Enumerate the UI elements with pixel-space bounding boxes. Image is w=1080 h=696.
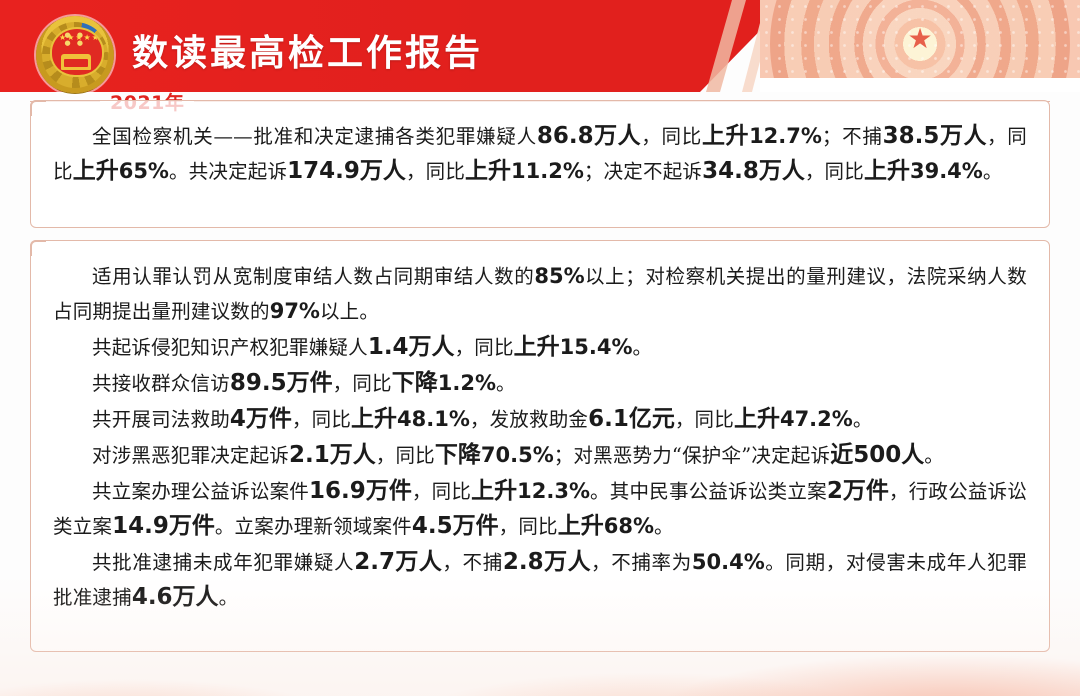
highlight-figure: 15.4%	[560, 335, 633, 359]
page-title: 数读最高检工作报告	[132, 24, 483, 76]
paragraph-list-box2: 适用认罪认罚从宽制度审结人数占同期审结人数的85%以上；对检察机关提出的量刑建议…	[53, 259, 1027, 615]
infographic-page: ★ ● ● ● ● ★★★★★ 数读最高检工作报告 2021年 全国检察机关——…	[0, 0, 1080, 696]
header-starburst-decoration: ★	[760, 0, 1080, 78]
highlight-figure: 2.8万人	[503, 549, 591, 575]
statistic-paragraph: 共开展司法救助4万件，同比上升48.1%，发放救助金6.1亿元，同比上升47.2…	[53, 402, 1027, 437]
highlight-figure: 12.7%	[749, 124, 822, 148]
highlight-figure: 11.2%	[511, 159, 584, 183]
highlight-figure: 6.1亿元	[588, 406, 675, 432]
highlight-figure: 上升	[702, 123, 749, 149]
highlight-figure: 47.2%	[780, 407, 853, 431]
highlight-figure: 85%	[534, 264, 584, 288]
highlight-figure: 下降	[435, 442, 481, 468]
highlight-figure: 4.6万人	[132, 584, 219, 610]
emblem-stars-icon: ★★★★★	[59, 34, 93, 50]
highlight-figure: 86.8万人	[537, 123, 641, 149]
highlight-figure: 近500人	[830, 442, 924, 468]
highlight-figure: 16.9万件	[309, 478, 412, 504]
details-box-statistics: 适用认罪认罚从宽制度审结人数占同期审结人数的85%以上；对检察机关提出的量刑建议…	[30, 240, 1050, 652]
highlight-figure: 34.8万人	[702, 158, 805, 184]
header-banner: ★ ● ● ● ● ★★★★★ 数读最高检工作报告	[0, 0, 1080, 92]
statistic-paragraph: 共立案办理公益诉讼案件16.9万件，同比上升12.3%。其中民事公益诉讼类立案2…	[53, 474, 1027, 544]
highlight-figure: 2.7万人	[354, 549, 442, 575]
emblem-red-shield: ● ● ● ● ★★★★★	[50, 27, 104, 77]
procuratorate-emblem-icon: ● ● ● ● ★★★★★	[36, 16, 114, 94]
details-box-body: 适用认罪认罚从宽制度审结人数占同期审结人数的85%以上；对检察机关提出的量刑建议…	[31, 241, 1049, 626]
highlight-figure: 68%	[604, 514, 654, 538]
highlight-figure: 上升	[73, 158, 119, 184]
highlight-figure: 38.5万人	[883, 123, 987, 149]
highlight-figure: 65%	[119, 159, 169, 183]
highlight-figure: 12.3%	[517, 479, 590, 503]
highlight-figure: 70.5%	[481, 443, 554, 467]
highlight-figure: 50.4%	[692, 550, 765, 574]
highlight-figure: 上升	[734, 406, 780, 432]
highlight-figure: 39.4%	[910, 159, 983, 183]
statistic-paragraph: 全国检察机关——批准和决定逮捕各类犯罪嫌疑人86.8万人，同比上升12.7%；不…	[53, 119, 1027, 189]
star-icon: ★	[906, 25, 934, 53]
highlight-figure: 89.5万件	[230, 370, 333, 396]
highlight-figure: 1.2%	[438, 371, 496, 395]
highlight-figure: 4.5万件	[412, 513, 499, 539]
paragraph-list-box1: 全国检察机关——批准和决定逮捕各类犯罪嫌疑人86.8万人，同比上升12.7%；不…	[53, 119, 1027, 189]
highlight-figure: 174.9万人	[287, 158, 406, 184]
highlight-figure: 14.9万件	[112, 513, 215, 539]
summary-box-body: 全国检察机关——批准和决定逮捕各类犯罪嫌疑人86.8万人，同比上升12.7%；不…	[31, 101, 1049, 199]
highlight-figure: 上升	[471, 478, 517, 504]
summary-box-national: 全国检察机关——批准和决定逮捕各类犯罪嫌疑人86.8万人，同比上升12.7%；不…	[30, 100, 1050, 228]
highlight-figure: 上升	[864, 158, 910, 184]
highlight-figure: 2万件	[827, 478, 889, 504]
statistic-paragraph: 共起诉侵犯知识产权犯罪嫌疑人1.4万人，同比上升15.4%。	[53, 330, 1027, 365]
highlight-figure: 上升	[558, 513, 604, 539]
highlight-figure: 上升	[514, 334, 560, 360]
highlight-figure: 2.1万人	[289, 442, 376, 468]
highlight-figure: 下降	[392, 370, 438, 396]
emblem-gate-icon	[61, 54, 91, 70]
statistic-paragraph: 共批准逮捕未成年犯罪嫌疑人2.7万人，不捕2.8万人，不捕率为50.4%。同期，…	[53, 545, 1027, 615]
highlight-figure: 上升	[465, 158, 511, 184]
statistic-paragraph: 对涉黑恶犯罪决定起诉2.1万人，同比下降70.5%；对黑恶势力“保护伞”决定起诉…	[53, 438, 1027, 473]
highlight-figure: 4万件	[230, 406, 292, 432]
statistic-paragraph: 适用认罪认罚从宽制度审结人数占同期审结人数的85%以上；对检察机关提出的量刑建议…	[53, 259, 1027, 329]
statistic-paragraph: 共接收群众信访89.5万件，同比下降1.2%。	[53, 366, 1027, 401]
highlight-figure: 48.1%	[397, 407, 470, 431]
highlight-figure: 1.4万人	[368, 334, 455, 360]
highlight-figure: 上升	[351, 406, 397, 432]
highlight-figure: 97%	[270, 299, 320, 323]
